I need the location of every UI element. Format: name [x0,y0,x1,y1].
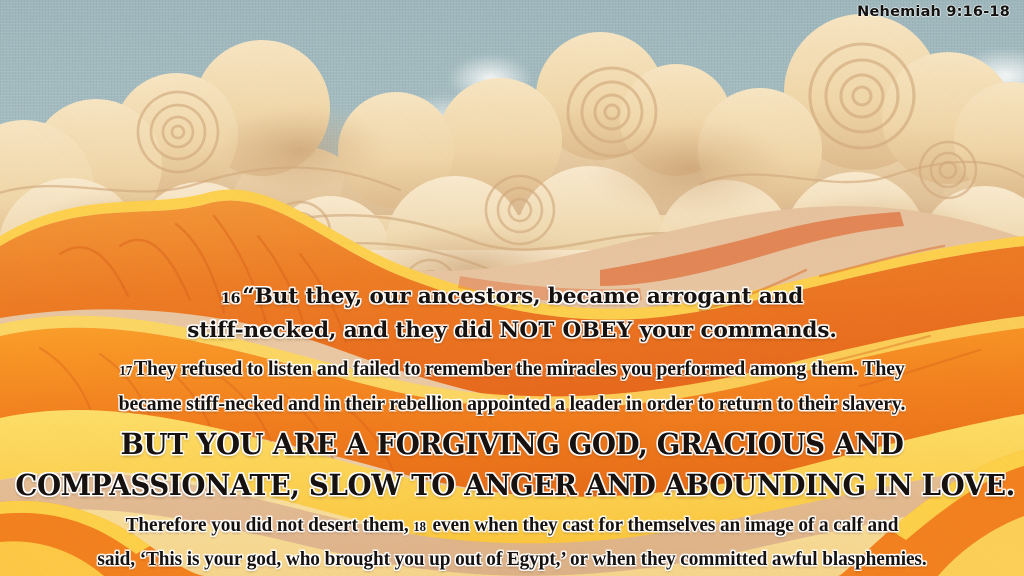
verse-17-line-1-text: They refused to listen and failed to rem… [134,356,905,380]
verse-16-block: 16“But they, our ancestors, became arrog… [0,281,1024,346]
verse-17-line-2: became stiff-necked and in their rebelli… [31,387,994,419]
verse-17-line-1: 17They refused to listen and failed to r… [31,352,994,387]
emphasis-line-1: BUT YOU ARE A FORGIVING GOD, GRACIOUS AN… [15,424,1008,465]
verse-number-18: 18 [413,519,427,534]
verse-18-line-2: said, ‘This is your god, who brought you… [31,543,994,575]
emphasis-line-2: COMPASSIONATE, SLOW TO ANGER AND ABOUNDI… [15,465,1008,506]
verse-16-line-2: stiff-necked, and they did NOT OBEY your… [0,315,1024,346]
verse-16-line-2-before: stiff-necked, and they did [187,318,499,343]
verse-18-block: Therefore you did not desert them, 18 ev… [0,509,1024,575]
verse-18-line-1: Therefore you did not desert them, 18 ev… [31,509,994,543]
verse-16-emphasis-not-obey: NOT OBEY [499,318,632,343]
emphasis-block: BUT YOU ARE A FORGIVING GOD, GRACIOUS AN… [0,424,1024,506]
verse-18-line-1-before: Therefore you did not desert them, [126,514,414,536]
verse-16-line-2-after: your commands. [632,318,836,343]
verse-number-17: 17 [119,363,134,378]
verse-16-line-1-text: “But they, our ancestors, became arrogan… [242,284,803,309]
verse-number-16: 16 [221,291,243,307]
scripture-image: Nehemiah 9:16-18 16“But they, our ancest… [0,0,1024,576]
verse-18-line-1-after: even when they cast for themselves an im… [428,514,899,536]
verse-16-line-1: 16“But they, our ancestors, became arrog… [0,281,1024,315]
scripture-reference: Nehemiah 9:16-18 [857,4,1010,20]
verse-17-block: 17They refused to listen and failed to r… [0,352,1024,419]
